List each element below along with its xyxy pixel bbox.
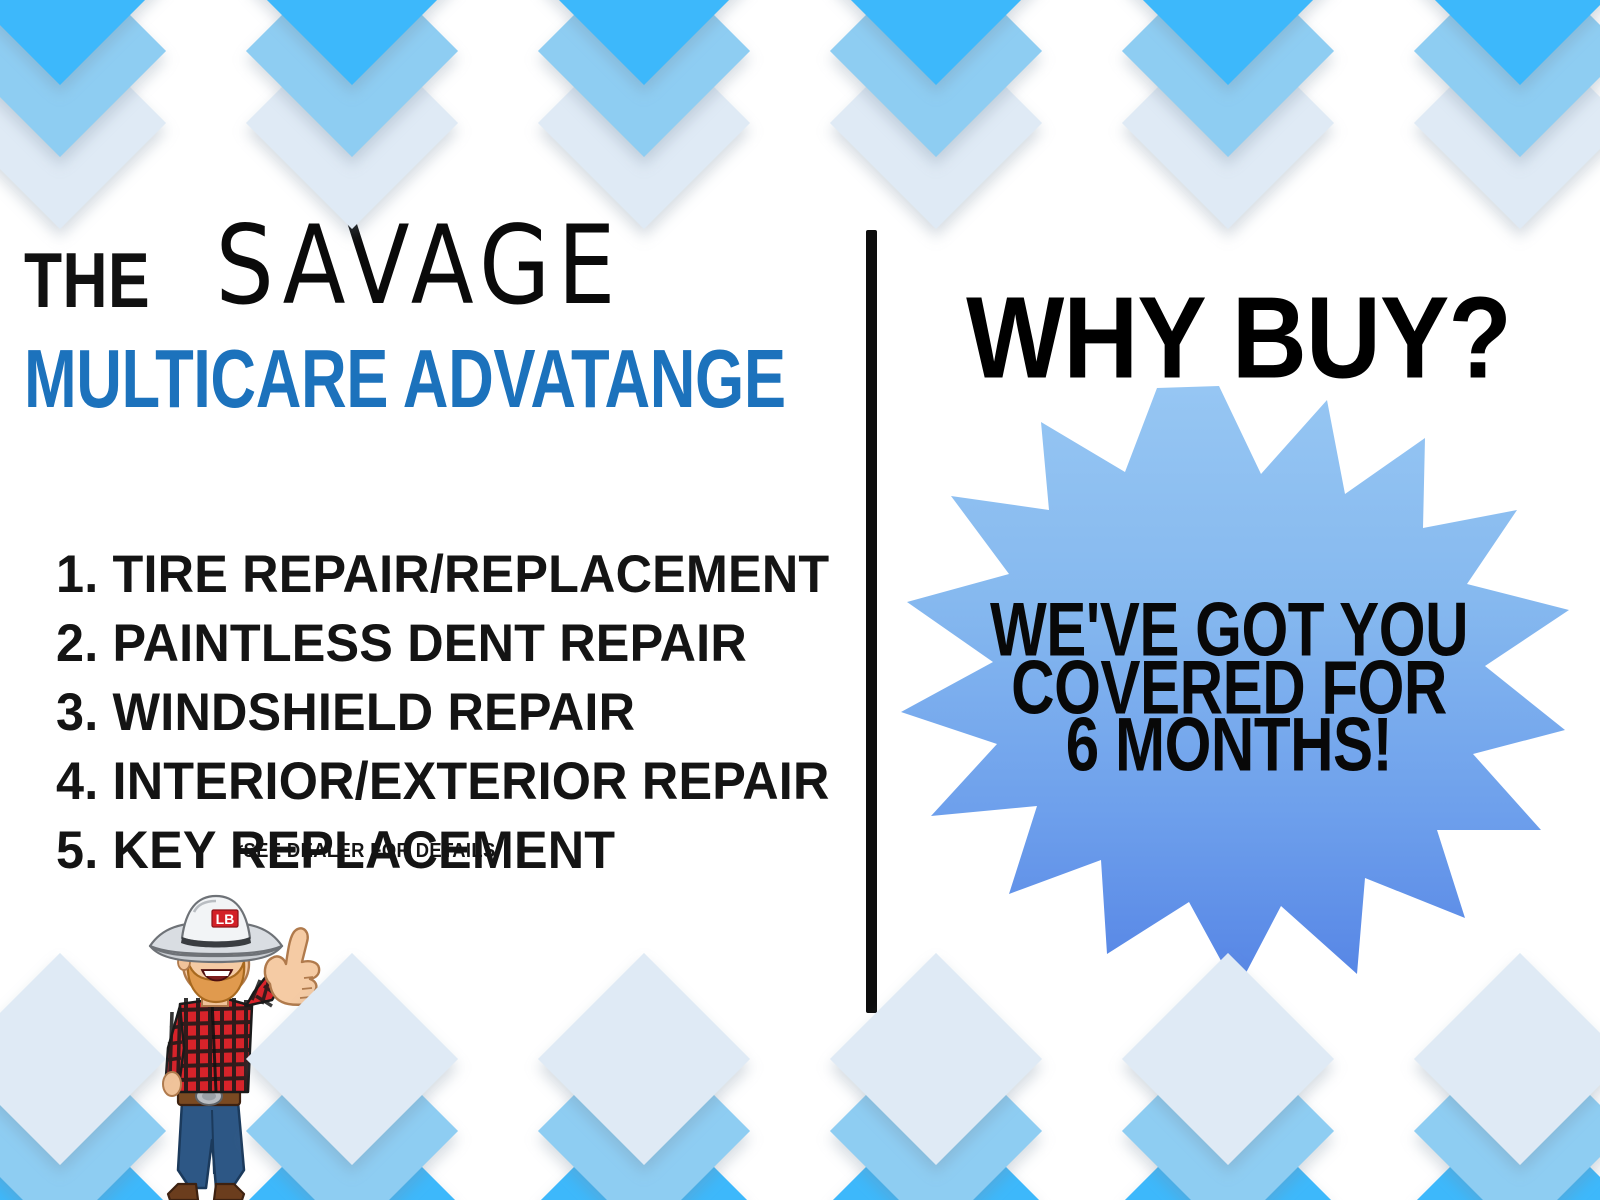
title-main: SAVAGE (216, 217, 623, 317)
title-prefix: THE (24, 245, 150, 317)
list-item: 2. PAINTLESS DENT REPAIR (56, 617, 816, 670)
promotional-flyer: THE SAVAGE MULTICARE ADVATANGE 1. TIRE R… (0, 0, 1600, 1200)
list-item: 4. INTERIOR/EXTERIOR REPAIR (56, 755, 816, 808)
cowboy-mascot-icon: LB (120, 888, 330, 1200)
left-panel: THE SAVAGE MULTICARE ADVATANGE 1. TIRE R… (0, 0, 866, 1200)
title-row: THE SAVAGE (24, 232, 814, 317)
right-panel: WHY BUY? WE'VE GOT YOU COVERED FOR 6 MON… (877, 0, 1600, 1200)
vertical-divider (866, 230, 877, 1013)
headline-block: THE SAVAGE MULTICARE ADVATANGE (24, 232, 814, 416)
burst-line-3: 6 MONTHS! (899, 711, 1559, 781)
starburst-text-block: WE'VE GOT YOU COVERED FOR 6 MONTHS! (889, 602, 1569, 775)
starburst-badge: WE'VE GOT YOU COVERED FOR 6 MONTHS! (889, 378, 1569, 998)
list-item: 3. WINDSHIELD REPAIR (56, 686, 816, 739)
svg-text:LB: LB (216, 911, 235, 927)
list-item: 1. TIRE REPAIR/REPLACEMENT (56, 548, 816, 601)
disclaimer-text: *SEE DEALER FOR DETAILS (236, 840, 496, 863)
title-subtitle: MULTICARE ADVATANGE (24, 331, 699, 426)
